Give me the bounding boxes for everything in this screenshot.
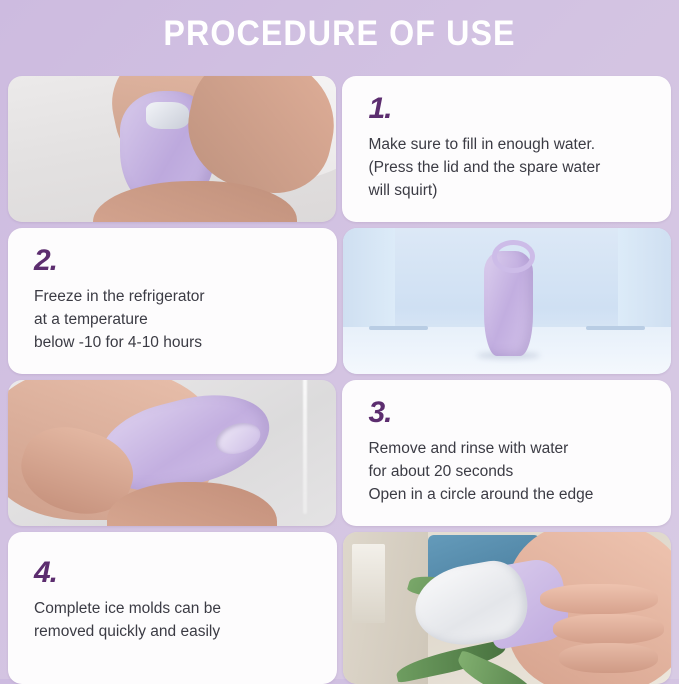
- step-1-text: 1. Make sure to fill in enough water. (P…: [342, 76, 671, 222]
- step-4-number: 4.: [34, 558, 319, 588]
- steps-grid: 1. Make sure to fill in enough water. (P…: [8, 76, 671, 684]
- step-row-4: 4. Complete ice molds can be removed qui…: [8, 532, 671, 684]
- step-2-text: 2. Freeze in the refrigerator at a tempe…: [8, 228, 337, 374]
- finger: [559, 643, 658, 673]
- step-3-body: Remove and rinse with water for about 20…: [368, 438, 653, 507]
- window-pane: [352, 544, 385, 623]
- step-1-number: 1.: [368, 94, 653, 124]
- step-row-3: 3. Remove and rinse with water for about…: [8, 380, 671, 526]
- step-2-line-1: Freeze in the refrigerator: [34, 286, 319, 309]
- step-2-body: Freeze in the refrigerator at a temperat…: [34, 286, 319, 355]
- infographic-page: PROCEDURE OF USE 1. Make sure to fill in…: [0, 0, 679, 679]
- finger: [553, 614, 665, 644]
- step-row-1: 1. Make sure to fill in enough water. (P…: [8, 76, 671, 222]
- step-1-line-3: will squirt): [368, 180, 653, 203]
- page-title: PROCEDURE OF USE: [27, 14, 652, 54]
- step-4-text: 4. Complete ice molds can be removed qui…: [8, 532, 337, 684]
- step-1-body: Make sure to fill in enough water. (Pres…: [368, 134, 653, 203]
- step-3-line-3: Open in a circle around the edge: [368, 484, 653, 507]
- freezer-shelf-left: [369, 326, 428, 330]
- step-2-line-2: at a temperature: [34, 309, 319, 332]
- step-3-number: 3.: [368, 398, 653, 428]
- step-3-photo: [8, 380, 336, 526]
- step-4-photo: [343, 532, 671, 684]
- step-2-number: 2.: [34, 246, 319, 276]
- step-row-2: 2. Freeze in the refrigerator at a tempe…: [8, 228, 671, 374]
- finger: [540, 584, 658, 614]
- mold-handle-loop: [492, 240, 535, 273]
- step-1-photo: [8, 76, 336, 222]
- freezer-shelf-right: [586, 326, 645, 330]
- ice-chunk: [146, 102, 189, 128]
- step-3-line-1: Remove and rinse with water: [368, 438, 653, 461]
- step-2-photo: [343, 228, 671, 374]
- step-4-line-2: removed quickly and easily: [34, 621, 319, 644]
- step-4-body: Complete ice molds can be removed quickl…: [34, 598, 319, 644]
- water-stream: [303, 380, 307, 514]
- step-1-line-1: Make sure to fill in enough water.: [368, 134, 653, 157]
- step-3-line-2: for about 20 seconds: [368, 461, 653, 484]
- step-3-text: 3. Remove and rinse with water for about…: [342, 380, 671, 526]
- step-1-line-2: (Press the lid and the spare water: [368, 157, 653, 180]
- step-4-line-1: Complete ice molds can be: [34, 598, 319, 621]
- step-2-line-3: below -10 for 4-10 hours: [34, 332, 319, 355]
